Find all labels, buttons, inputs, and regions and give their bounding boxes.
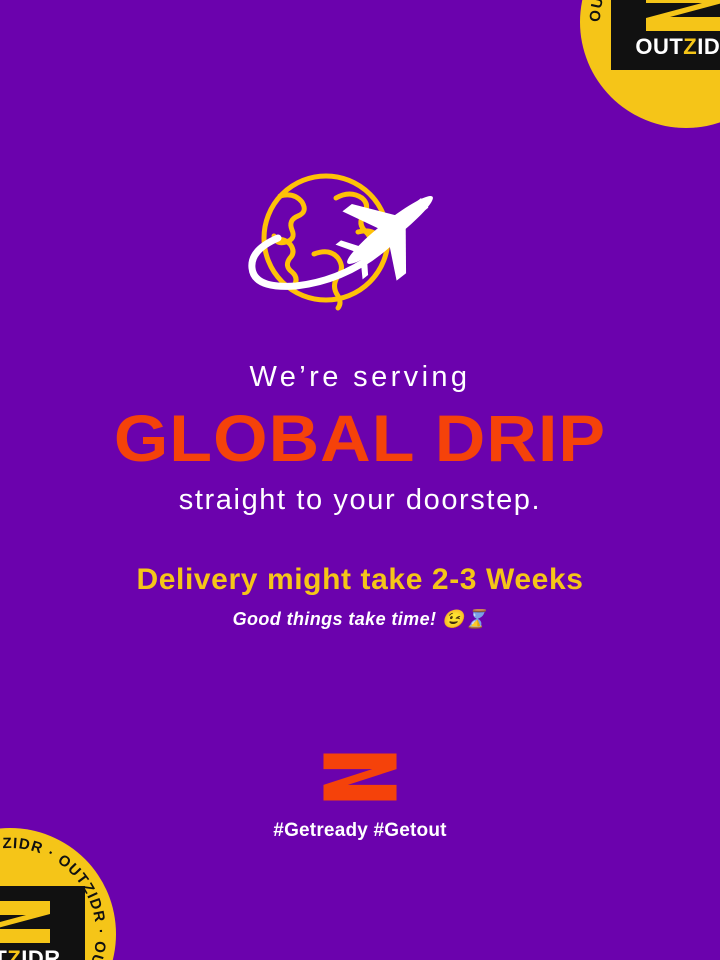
airplane-icon [320,168,459,298]
wordmark-z: Z [683,36,697,58]
badge-core: OUT Z IDR [0,886,85,960]
wordmark-part1: OUT [635,36,683,58]
kicker-text: We’re serving [0,362,720,394]
subline-text: straight to your doorstep. [0,485,720,517]
footer-block: #Getready #Getout [0,748,720,842]
z-logo-icon [0,899,56,945]
tagline-text: Good things take time! 😉⌛ [0,610,720,630]
hashtags-text: #Getready #Getout [273,820,446,842]
wordmark-z: Z [7,948,21,960]
globe-airplane-artwork [0,168,720,328]
brand-badge-top-right: OUTZIDR · OUTZIDR · OUTZIDR · OUTZIDR · … [580,0,720,128]
headline-block: We’re serving GLOBAL DRIP straight to yo… [0,362,720,630]
headline-text: GLOBAL DRIP [0,404,720,473]
brand-badge-bottom-left: OUTZIDR · OUTZIDR · OUTZIDR · OUTZIDR · … [0,828,116,960]
z-logo-icon [320,748,400,806]
promo-poster: OUTZIDR · OUTZIDR · OUTZIDR · OUTZIDR · … [0,0,720,960]
delivery-notice-text: Delivery might take 2-3 Weeks [0,563,720,596]
badge-core: OUT Z IDR [611,0,720,70]
badge-wordmark: OUT Z IDR [0,948,61,960]
z-logo-icon [640,0,720,33]
wordmark-part2: IDR [697,36,720,58]
badge-wordmark: OUT Z IDR [635,36,720,58]
wordmark-part2: IDR [21,948,60,960]
wordmark-part1: OUT [0,948,7,960]
artwork-svg [240,168,480,328]
